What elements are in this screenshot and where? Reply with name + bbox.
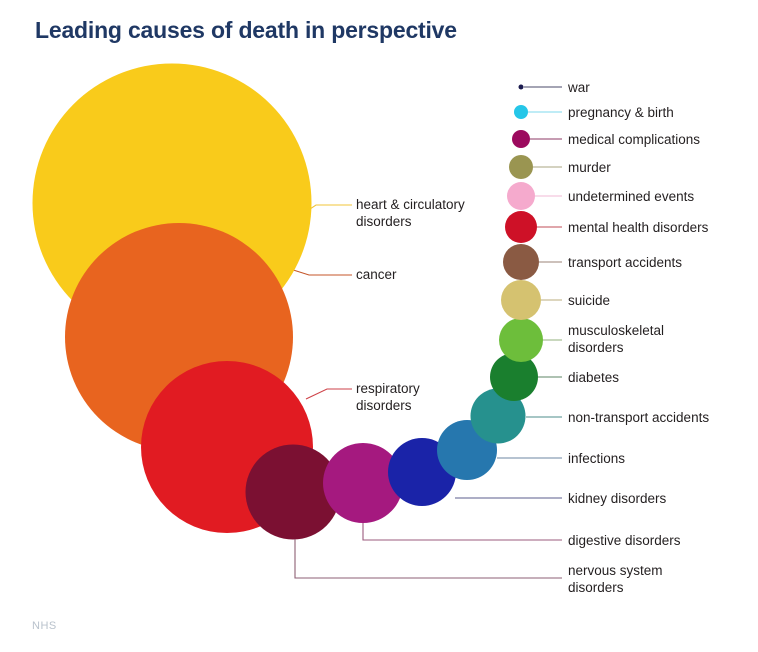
bubble-musculoskeletal-disorders[interactable] bbox=[499, 318, 543, 362]
bubble-mental-health-disorders[interactable] bbox=[505, 211, 537, 243]
bubble-transport-accidents[interactable] bbox=[503, 244, 539, 280]
legend-label-musculoskeletal-disorders[interactable]: musculoskeletal disorders bbox=[568, 322, 664, 357]
callout-label-cancer: cancer bbox=[356, 266, 397, 283]
legend-label-infections[interactable]: infections bbox=[568, 450, 625, 467]
bubble-suicide[interactable] bbox=[501, 280, 541, 320]
bubble-murder[interactable] bbox=[509, 155, 533, 179]
legend-label-non-transport-accidents[interactable]: non-transport accidents bbox=[568, 409, 709, 426]
legend-label-transport-accidents[interactable]: transport accidents bbox=[568, 254, 682, 271]
legend-label-kidney-disorders[interactable]: kidney disorders bbox=[568, 490, 666, 507]
legend-label-undetermined-events[interactable]: undetermined events bbox=[568, 188, 694, 205]
legend-label-suicide[interactable]: suicide bbox=[568, 292, 610, 309]
leader-line-respiratory bbox=[306, 389, 352, 399]
callout-label-respiratory-disorders: respiratory disorders bbox=[356, 380, 420, 415]
bubble-pregnancy-birth[interactable] bbox=[514, 105, 528, 119]
legend-label-pregnancy-birth[interactable]: pregnancy & birth bbox=[568, 104, 674, 121]
legend-line-digestive-disorders bbox=[363, 523, 562, 540]
leader-line-cancer bbox=[287, 268, 352, 275]
legend-label-medical-complications[interactable]: medical complications bbox=[568, 131, 700, 148]
bubble-series bbox=[33, 64, 544, 540]
bubble-medical-complications[interactable] bbox=[512, 130, 530, 148]
bubble-undetermined-events[interactable] bbox=[507, 182, 535, 210]
legend-label-nervous-system-disorders[interactable]: nervous system disorders bbox=[568, 562, 663, 597]
bubble-war[interactable] bbox=[519, 85, 524, 90]
callout-label-heart-circulatory-disorders: heart & circulatory disorders bbox=[356, 196, 465, 231]
legend-label-diabetes[interactable]: diabetes bbox=[568, 369, 619, 386]
nhs-logo-text: NHS bbox=[32, 620, 57, 632]
bubble-chart-figure: Leading causes of death in perspective bbox=[0, 0, 758, 652]
legend-label-mental-health-disorders[interactable]: mental health disorders bbox=[568, 219, 708, 236]
legend-line-nervous-system-disorders bbox=[295, 539, 562, 578]
legend-label-digestive-disorders[interactable]: digestive disorders bbox=[568, 532, 681, 549]
legend-label-murder[interactable]: murder bbox=[568, 159, 611, 176]
legend-label-war[interactable]: war bbox=[568, 79, 590, 96]
